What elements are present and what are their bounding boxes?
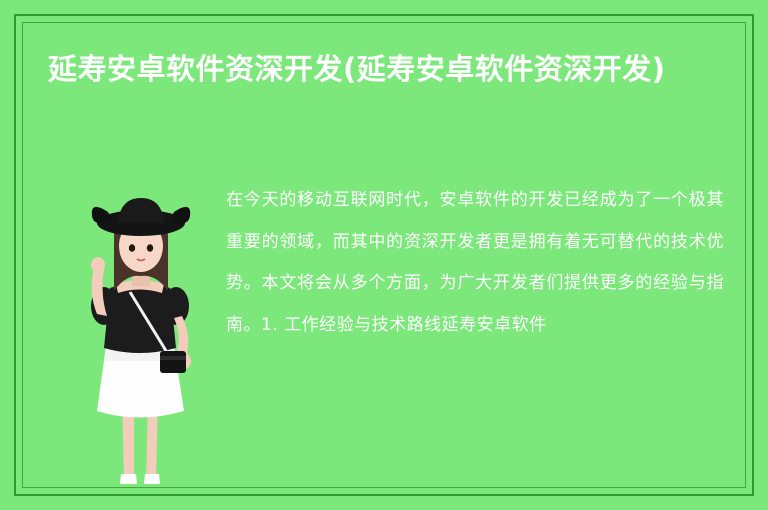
document-content: 延寿安卓软件资深开发(延寿安卓软件资深开发) — [36, 36, 732, 474]
article-body: 在今天的移动互联网时代，安卓软件的开发已经成为了一个极其重要的领域，而其中的资深… — [226, 180, 724, 347]
document-page: 延寿安卓软件资深开发(延寿安卓软件资深开发) — [0, 0, 768, 510]
body-section: 在今天的移动互联网时代，安卓软件的开发已经成为了一个极其重要的领域，而其中的资深… — [36, 176, 732, 474]
fashion-girl-photo — [64, 196, 214, 486]
page-title: 延寿安卓软件资深开发(延寿安卓软件资深开发) — [48, 48, 748, 90]
